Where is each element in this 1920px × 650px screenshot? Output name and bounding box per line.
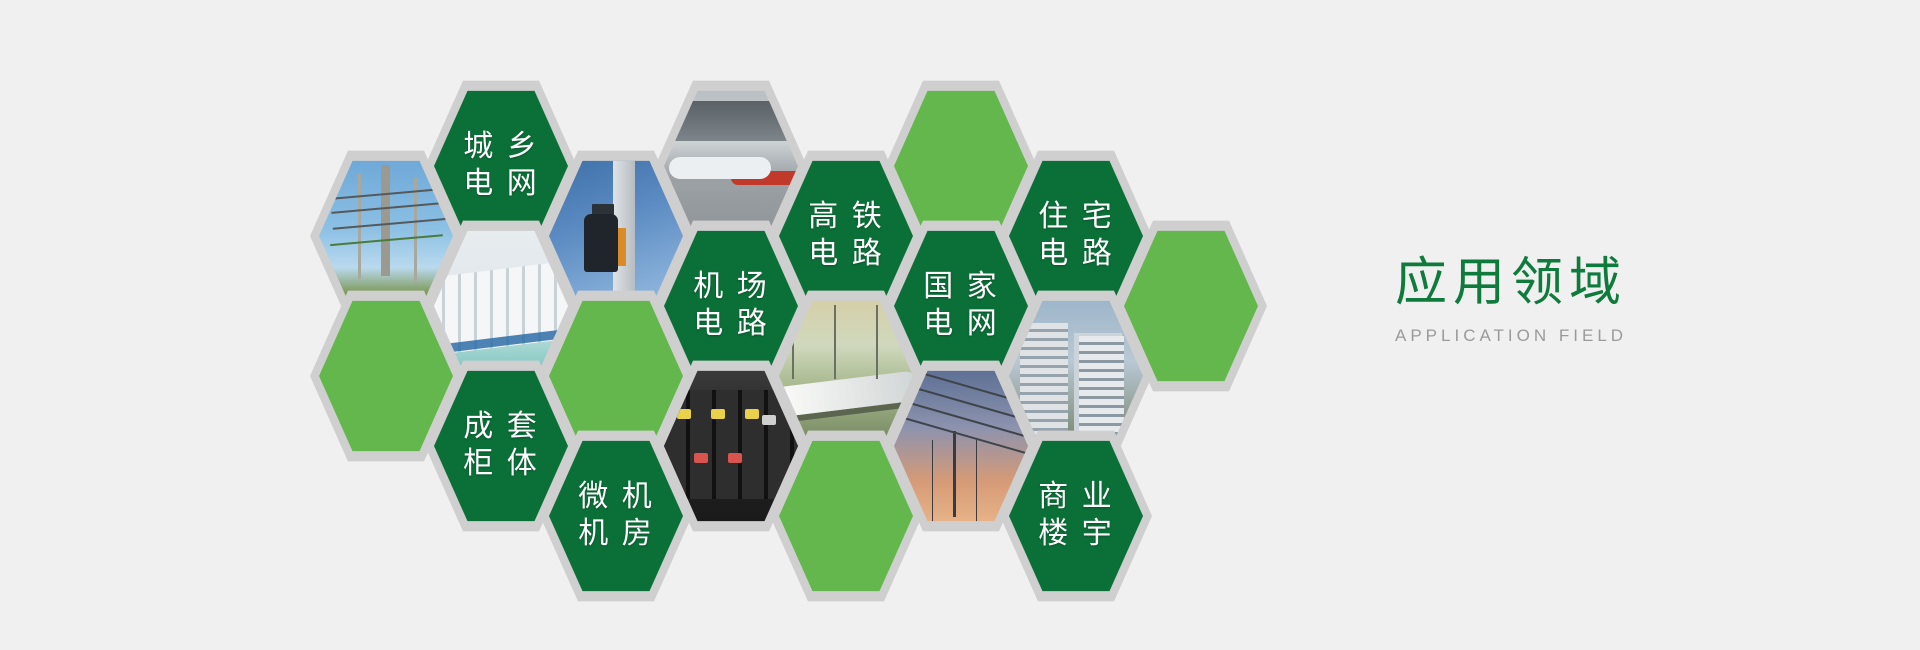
heading-block: 应用领域 APPLICATION FIELD [1395,255,1627,346]
hex-label: 城 乡 电 网 [463,129,539,202]
hex-label: 商 业 楼 宇 [1038,479,1114,552]
hex-label: 住 宅 电 路 [1038,199,1114,272]
page-title: 应用领域 [1395,255,1627,312]
hex-label: 成 套 柜 体 [463,409,539,482]
hex-label: 国 家 电 网 [923,269,999,342]
page-subtitle: APPLICATION FIELD [1395,326,1627,346]
hex-inner: 商 业 楼 宇 [1009,439,1143,594]
application-field-banner: 城 乡 电 网成 套 柜 体微 机 机 房机 场 电 路高 铁 电 路国 家 电… [0,0,1920,650]
hex-label: 微 机 机 房 [578,479,654,552]
hex-label: 机 场 电 路 [693,269,769,342]
hex-inner [1124,229,1258,384]
hex-label: 高 铁 电 路 [808,199,884,272]
